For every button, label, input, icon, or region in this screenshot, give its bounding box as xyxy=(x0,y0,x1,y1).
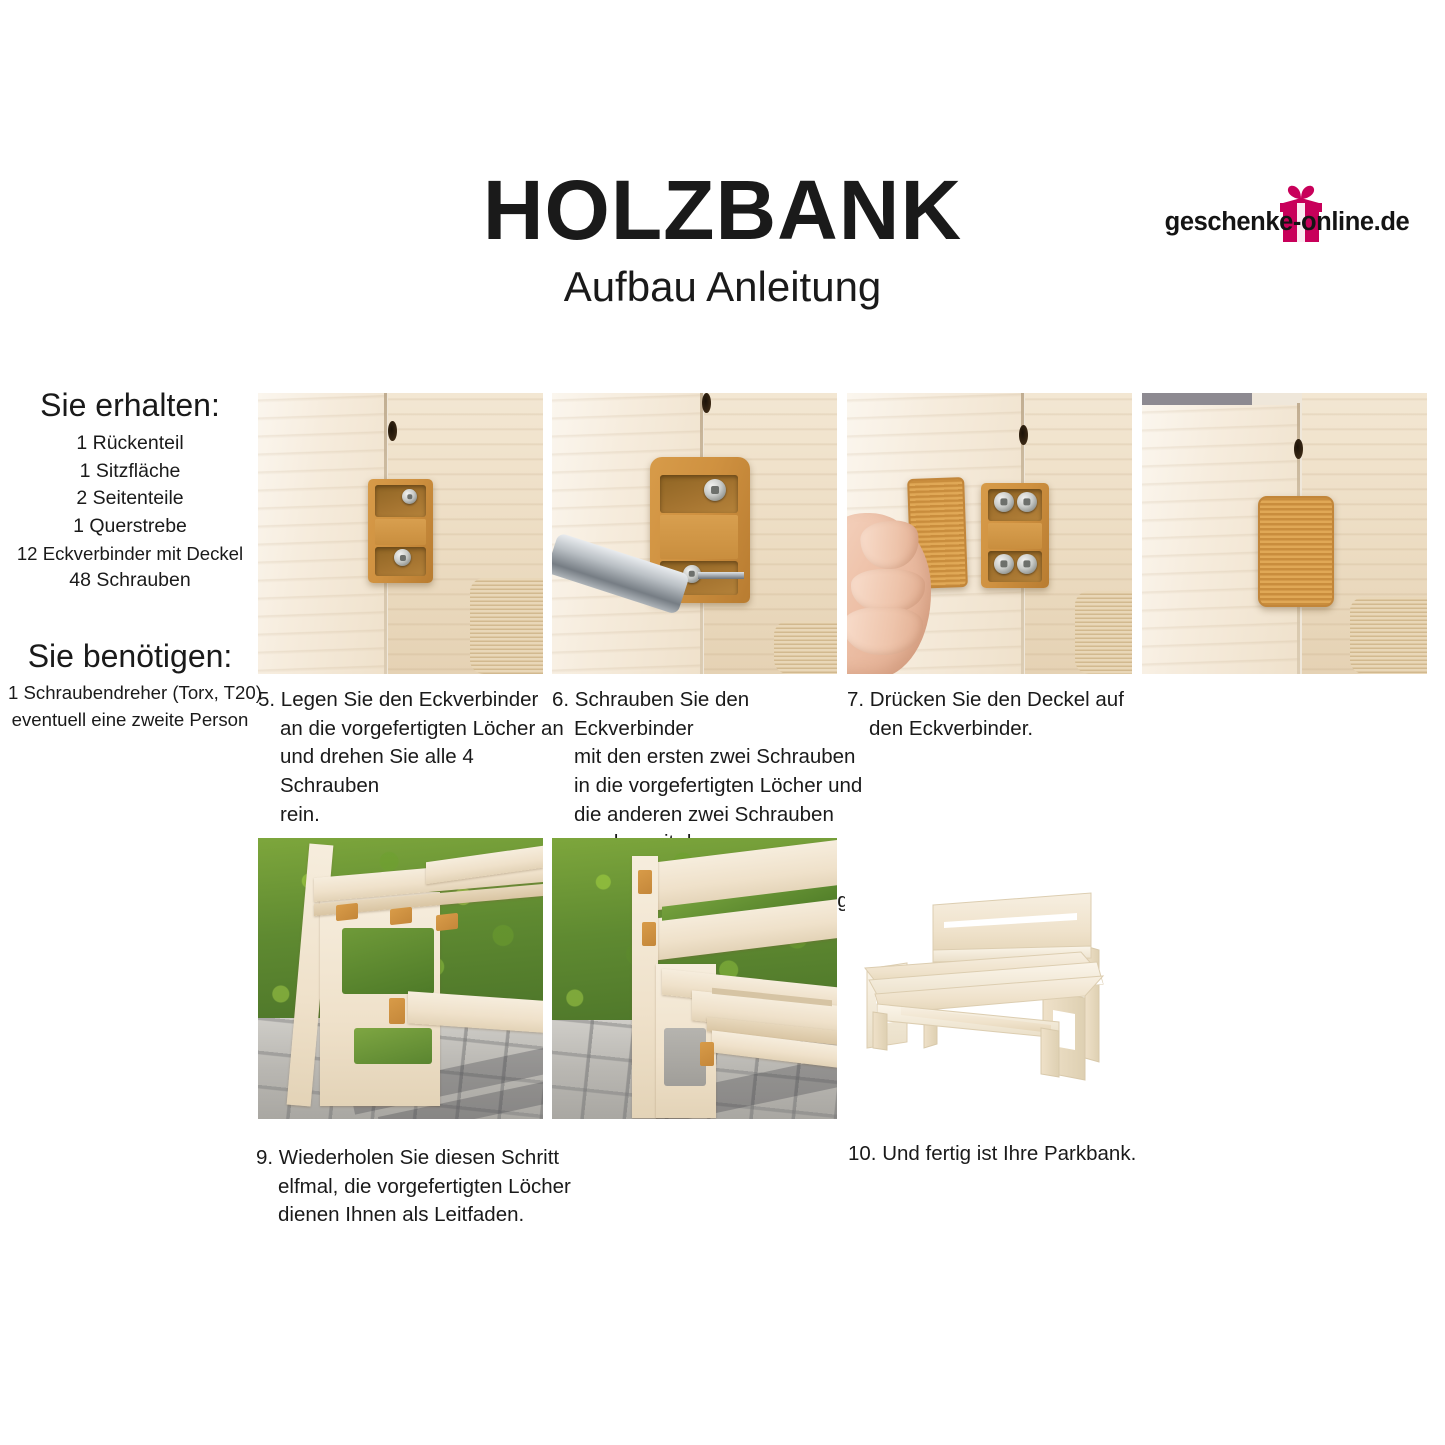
page-subtitle: Aufbau Anleitung xyxy=(0,266,1445,308)
photo-step-9-bench-frame xyxy=(258,838,543,1119)
need-item: 1 Schraubendreher (Torx, T20) xyxy=(8,680,252,706)
caption-step-5: 5. Legen Sie den Eckverbinder an die vor… xyxy=(258,686,570,829)
photo-step-9-bench-assembled xyxy=(552,838,837,1119)
caption-step-9: 9. Wiederholen Sie diesen Schritt elfmal… xyxy=(256,1144,578,1230)
receive-item: 48 Schrauben xyxy=(8,567,252,595)
logo-text: geschenke-online.de xyxy=(1158,208,1416,237)
receive-item: 1 Rückenteil xyxy=(8,430,252,458)
need-heading: Sie benötigen: xyxy=(8,639,252,675)
brand-logo: geschenke-online.de xyxy=(1158,182,1416,252)
connector-cover-installed xyxy=(1258,496,1334,607)
bench-illustration xyxy=(845,862,1135,1092)
photo-step-10-finished-bench xyxy=(845,862,1135,1092)
receive-item: 12 Eckverbinder mit Deckel xyxy=(8,541,252,567)
photo-step-8-closed-connector xyxy=(1142,393,1427,674)
photo-step-5-place-connector xyxy=(258,393,543,674)
document-header: HOLZBANK Aufbau Anleitung xyxy=(0,0,1445,340)
receive-item: 1 Querstrebe xyxy=(8,513,252,541)
caption-step-7: 7. Drücken Sie den Deckel auf den Eckver… xyxy=(847,686,1154,743)
photo-step-6-screw-connector xyxy=(552,393,837,674)
receive-heading: Sie erhalten: xyxy=(8,388,252,424)
receive-item: 2 Seitenteile xyxy=(8,485,252,513)
photo-step-7-press-cover xyxy=(847,393,1132,674)
parts-and-tools-panel: Sie erhalten: 1 Rückenteil 1 Sitzfläche … xyxy=(8,388,252,733)
receive-item: 1 Sitzfläche xyxy=(8,458,252,486)
need-item: eventuell eine zweite Person xyxy=(8,707,252,733)
caption-step-10: 10. Und fertig ist Ihre Parkbank. xyxy=(848,1140,1166,1169)
